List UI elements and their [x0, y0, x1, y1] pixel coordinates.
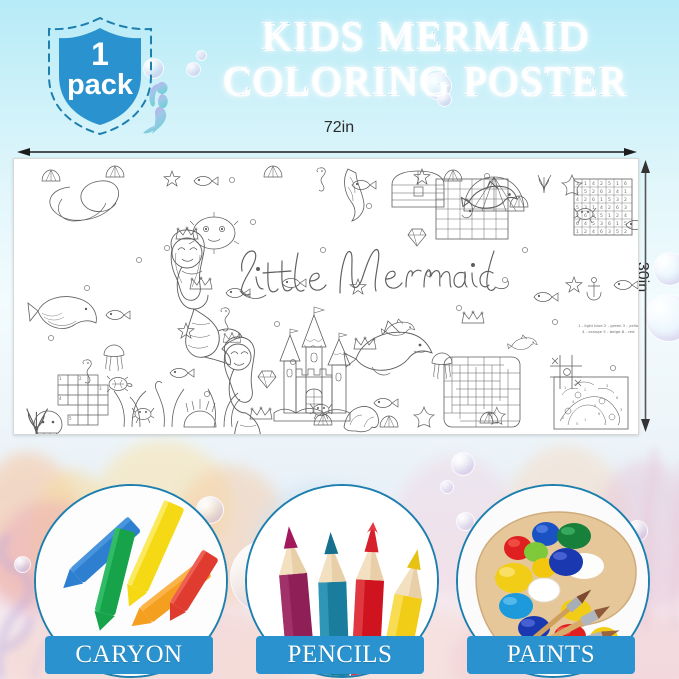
svg-text:4: 4 [616, 189, 619, 195]
svg-text:1: 1 [600, 197, 603, 203]
title-line-1: KIDS MERMAID [176, 14, 676, 59]
svg-text:4: 4 [592, 181, 595, 187]
page-title: KIDS MERMAID COLORING POSTER [176, 14, 676, 104]
svg-text:2: 2 [608, 205, 611, 211]
svg-text:1: 1 [624, 189, 627, 195]
svg-text:4: 4 [592, 229, 595, 235]
pencils-label: PENCILS [256, 636, 424, 674]
svg-text:2: 2 [584, 388, 586, 392]
svg-text:5: 5 [592, 221, 595, 227]
svg-text:3: 3 [608, 229, 611, 235]
paints-label: PAINTS [467, 636, 635, 674]
svg-text:1: 1 [576, 229, 579, 235]
svg-text:6: 6 [608, 221, 611, 227]
svg-text:2: 2 [624, 197, 627, 203]
svg-text:5: 5 [608, 197, 611, 203]
poster-line-art: 314 2516 152 6341 426 1532 531 4263 263 … [14, 159, 638, 434]
product-image: 1 pack KIDS MERMAID COLORING POSTER 72in [0, 0, 679, 679]
svg-text:4: 4 [576, 197, 579, 203]
svg-text:4 - orange 5 - beige 6 - red: 4 - orange 5 - beige 6 - red [582, 329, 635, 334]
badge-unit: pack [42, 70, 158, 100]
width-dimension-label: 72in [284, 119, 394, 137]
svg-text:3: 3 [616, 197, 619, 203]
svg-text:2: 2 [624, 229, 627, 235]
crayons-label: CARYON [45, 636, 213, 674]
svg-text:5: 5 [584, 189, 587, 195]
svg-text:3: 3 [608, 189, 611, 195]
svg-text:2: 2 [576, 213, 579, 219]
feature-crayons: CARYON [34, 484, 228, 678]
svg-text:2: 2 [600, 181, 603, 187]
svg-text:6: 6 [592, 197, 595, 203]
svg-text:1: 1 [592, 205, 595, 211]
svg-text:2: 2 [562, 416, 564, 420]
svg-text:3: 3 [624, 205, 627, 211]
svg-text:1: 1 [564, 386, 566, 390]
svg-text:1: 1 [616, 181, 619, 187]
svg-text:1: 1 [616, 221, 619, 227]
feature-pencils: PENCILS [245, 484, 439, 678]
svg-text:1: 1 [584, 418, 586, 422]
svg-text:2: 2 [584, 229, 587, 235]
svg-text:6: 6 [616, 205, 619, 211]
svg-text:6: 6 [584, 213, 587, 219]
svg-text:2: 2 [616, 213, 619, 219]
svg-text:3: 3 [592, 213, 595, 219]
svg-text:5: 5 [594, 404, 596, 408]
svg-text:3: 3 [584, 205, 587, 211]
svg-text:5: 5 [616, 229, 619, 235]
svg-text:3: 3 [576, 181, 579, 187]
svg-text:3: 3 [600, 221, 603, 227]
title-line-2: COLORING POSTER [176, 59, 676, 104]
svg-text:2: 2 [584, 197, 587, 203]
badge-count: 1 [42, 38, 158, 70]
mermaid-coloring-poster: 314 2516 152 6341 426 1532 531 4263 263 … [13, 158, 639, 435]
svg-text:2: 2 [592, 189, 595, 195]
svg-text:5: 5 [608, 181, 611, 187]
poster-color-legend: 1 - light blue 2 - green 3 - yellow [578, 323, 638, 328]
svg-text:5: 5 [576, 422, 578, 426]
svg-text:1: 1 [584, 181, 587, 187]
svg-text:3: 3 [606, 384, 608, 388]
feature-paints: PAINTS [456, 484, 650, 678]
svg-text:1: 1 [576, 189, 579, 195]
mermaid-silhouette-icon [142, 78, 180, 136]
svg-text:4: 4 [584, 221, 587, 227]
svg-text:6: 6 [576, 221, 579, 227]
svg-text:4: 4 [624, 213, 627, 219]
svg-text:3: 3 [620, 408, 622, 412]
one-pack-badge: 1 pack [42, 14, 158, 138]
svg-text:6: 6 [600, 189, 603, 195]
height-dimension-arrow [640, 160, 651, 432]
svg-text:6: 6 [624, 181, 627, 187]
svg-text:1: 1 [608, 213, 611, 219]
width-dimension-arrow [17, 147, 637, 157]
svg-text:4: 4 [600, 205, 603, 211]
svg-text:5: 5 [600, 213, 603, 219]
svg-text:5: 5 [576, 205, 579, 211]
svg-text:6: 6 [600, 229, 603, 235]
